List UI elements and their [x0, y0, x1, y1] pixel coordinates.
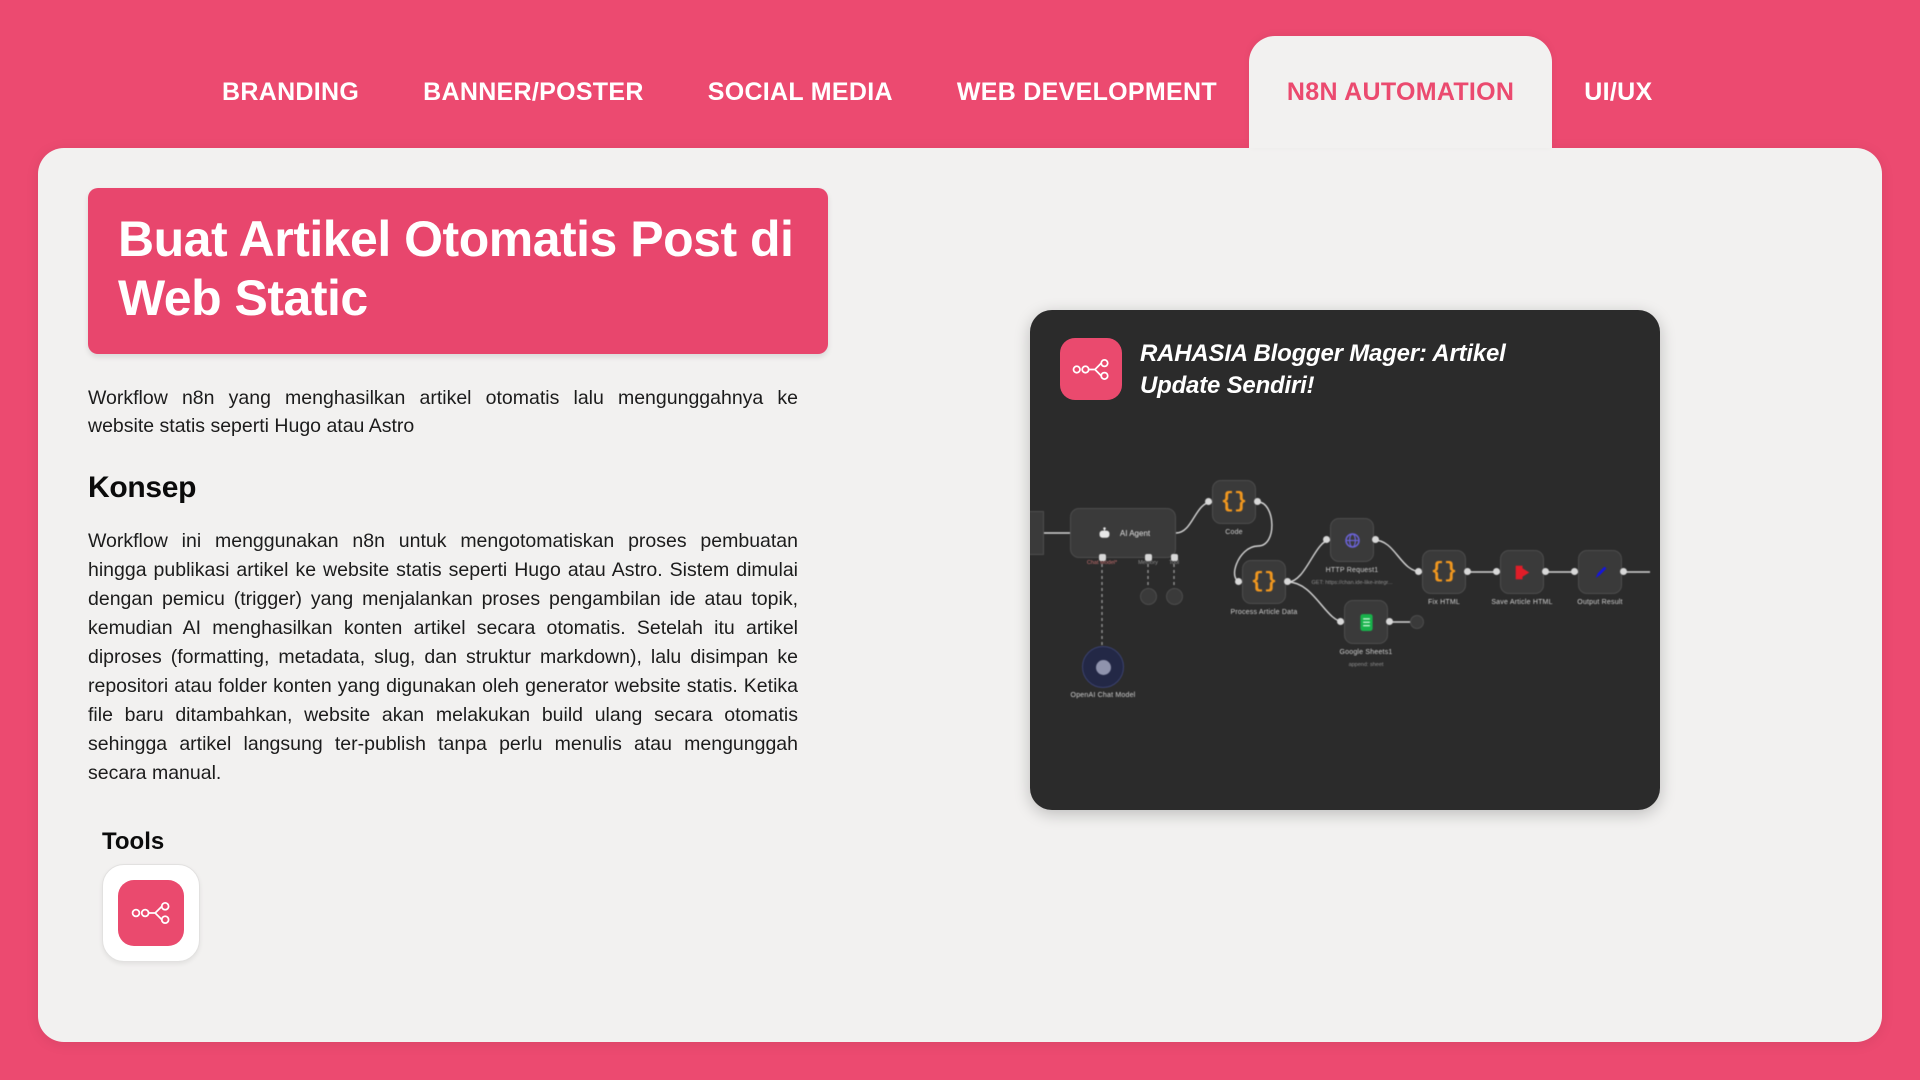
convert-file-icon — [1513, 564, 1532, 581]
page-title: Buat Artikel Otomatis Post di Web Static — [118, 210, 798, 328]
port-dot — [1620, 568, 1627, 575]
workflow-node-fix-html[interactable]: {} — [1422, 550, 1466, 594]
tool-item-n8n[interactable] — [102, 864, 200, 962]
n8n-icon — [1060, 338, 1122, 400]
port-dot — [1284, 578, 1291, 585]
code-braces-icon: {} — [1221, 491, 1247, 513]
left-column: Buat Artikel Otomatis Post di Web Static… — [88, 180, 848, 1042]
add-node-button[interactable] — [1410, 615, 1424, 629]
workflow-node-code[interactable]: {} — [1212, 480, 1256, 524]
workflow-canvas[interactable]: AI Agent Chat Model* Memory Tool OpenAI … — [1030, 430, 1660, 810]
workflow-node-sublabel: GET: https://chan.ide-like-integr... — [1311, 580, 1392, 586]
port-dot — [1254, 498, 1261, 505]
title-banner: Buat Artikel Otomatis Post di Web Static — [88, 188, 828, 354]
globe-icon — [1343, 531, 1362, 550]
port-dot — [1415, 568, 1422, 575]
memory-stub-node[interactable] — [1140, 588, 1157, 605]
port-dot — [1205, 498, 1212, 505]
workflow-node-label: Save Article HTML — [1491, 599, 1552, 606]
code-braces-icon: {} — [1251, 571, 1277, 593]
edit-pen-icon — [1591, 563, 1610, 582]
code-braces-icon: {} — [1431, 561, 1457, 583]
workflow-node-output-result[interactable] — [1578, 550, 1622, 594]
port-dot — [1372, 536, 1379, 543]
openai-icon — [1096, 660, 1111, 675]
tab-n8n-automation[interactable]: N8N AUTOMATION — [1249, 36, 1552, 148]
tab-web-development[interactable]: WEB DEVELOPMENT — [925, 36, 1249, 148]
workflow-node-save-article-html[interactable] — [1500, 550, 1544, 594]
port-dot — [1337, 618, 1344, 625]
port-dot — [1099, 554, 1106, 561]
tab-social-media[interactable]: SOCIAL MEDIA — [676, 36, 925, 148]
port-dot — [1235, 578, 1242, 585]
workflow-node-openai-chat-model[interactable] — [1082, 646, 1124, 688]
workflow-node-label: Fix HTML — [1428, 599, 1460, 606]
port-dot — [1571, 568, 1578, 575]
port-dot — [1323, 536, 1330, 543]
workflow-node-label: HTTP Request1 — [1326, 567, 1379, 574]
tab-banner-poster[interactable]: BANNER/POSTER — [391, 36, 676, 148]
preview-header: RAHASIA Blogger Mager: Artikel Update Se… — [1030, 310, 1660, 403]
workflow-node-google-sheets[interactable] — [1344, 600, 1388, 644]
port-dot — [1493, 568, 1500, 575]
workflow-node-ai-agent[interactable]: AI Agent — [1070, 508, 1176, 558]
workflow-node-http-request[interactable] — [1330, 518, 1374, 562]
ai-agent-icon — [1096, 525, 1113, 542]
n8n-icon — [118, 880, 184, 946]
workflow-node-label: Output Result — [1577, 599, 1622, 606]
content-card: Buat Artikel Otomatis Post di Web Static… — [38, 148, 1882, 1042]
category-tabbar: BRANDING BANNER/POSTER SOCIAL MEDIA WEB … — [0, 0, 1920, 148]
right-column: RAHASIA Blogger Mager: Artikel Update Se… — [848, 180, 1842, 1042]
port-dot — [1464, 568, 1471, 575]
workflow-node-label: AI Agent — [1120, 529, 1150, 538]
section-heading-konsep: Konsep — [88, 471, 848, 505]
tool-stub-node[interactable] — [1166, 588, 1183, 605]
tab-ui-ux[interactable]: UI/UX — [1552, 36, 1684, 148]
body-paragraph: Workflow ini menggunakan n8n untuk mengo… — [88, 527, 798, 788]
port-dot — [1171, 554, 1178, 561]
workflow-node-trigger[interactable] — [1030, 511, 1044, 555]
workflow-node-sublabel: append: sheet — [1349, 662, 1384, 668]
workflow-node-process-article-data[interactable]: {} — [1242, 560, 1286, 604]
workflow-node-label: Process Article Data — [1230, 609, 1297, 616]
workflow-node-label: Code — [1225, 529, 1243, 536]
tools-heading: Tools — [102, 828, 848, 856]
preview-title: RAHASIA Blogger Mager: Artikel Update Se… — [1140, 338, 1560, 403]
workflow-node-label: OpenAI Chat Model — [1071, 692, 1136, 699]
tools-list — [102, 864, 848, 962]
google-sheets-icon — [1359, 613, 1374, 632]
workflow-preview-card[interactable]: RAHASIA Blogger Mager: Artikel Update Se… — [1030, 310, 1660, 810]
port-dot — [1542, 568, 1549, 575]
lead-paragraph: Workflow n8n yang menghasilkan artikel o… — [88, 384, 798, 441]
port-dot — [1145, 554, 1152, 561]
port-dot — [1386, 618, 1393, 625]
workflow-node-label: Google Sheets1 — [1339, 649, 1392, 656]
tab-branding[interactable]: BRANDING — [190, 36, 391, 148]
